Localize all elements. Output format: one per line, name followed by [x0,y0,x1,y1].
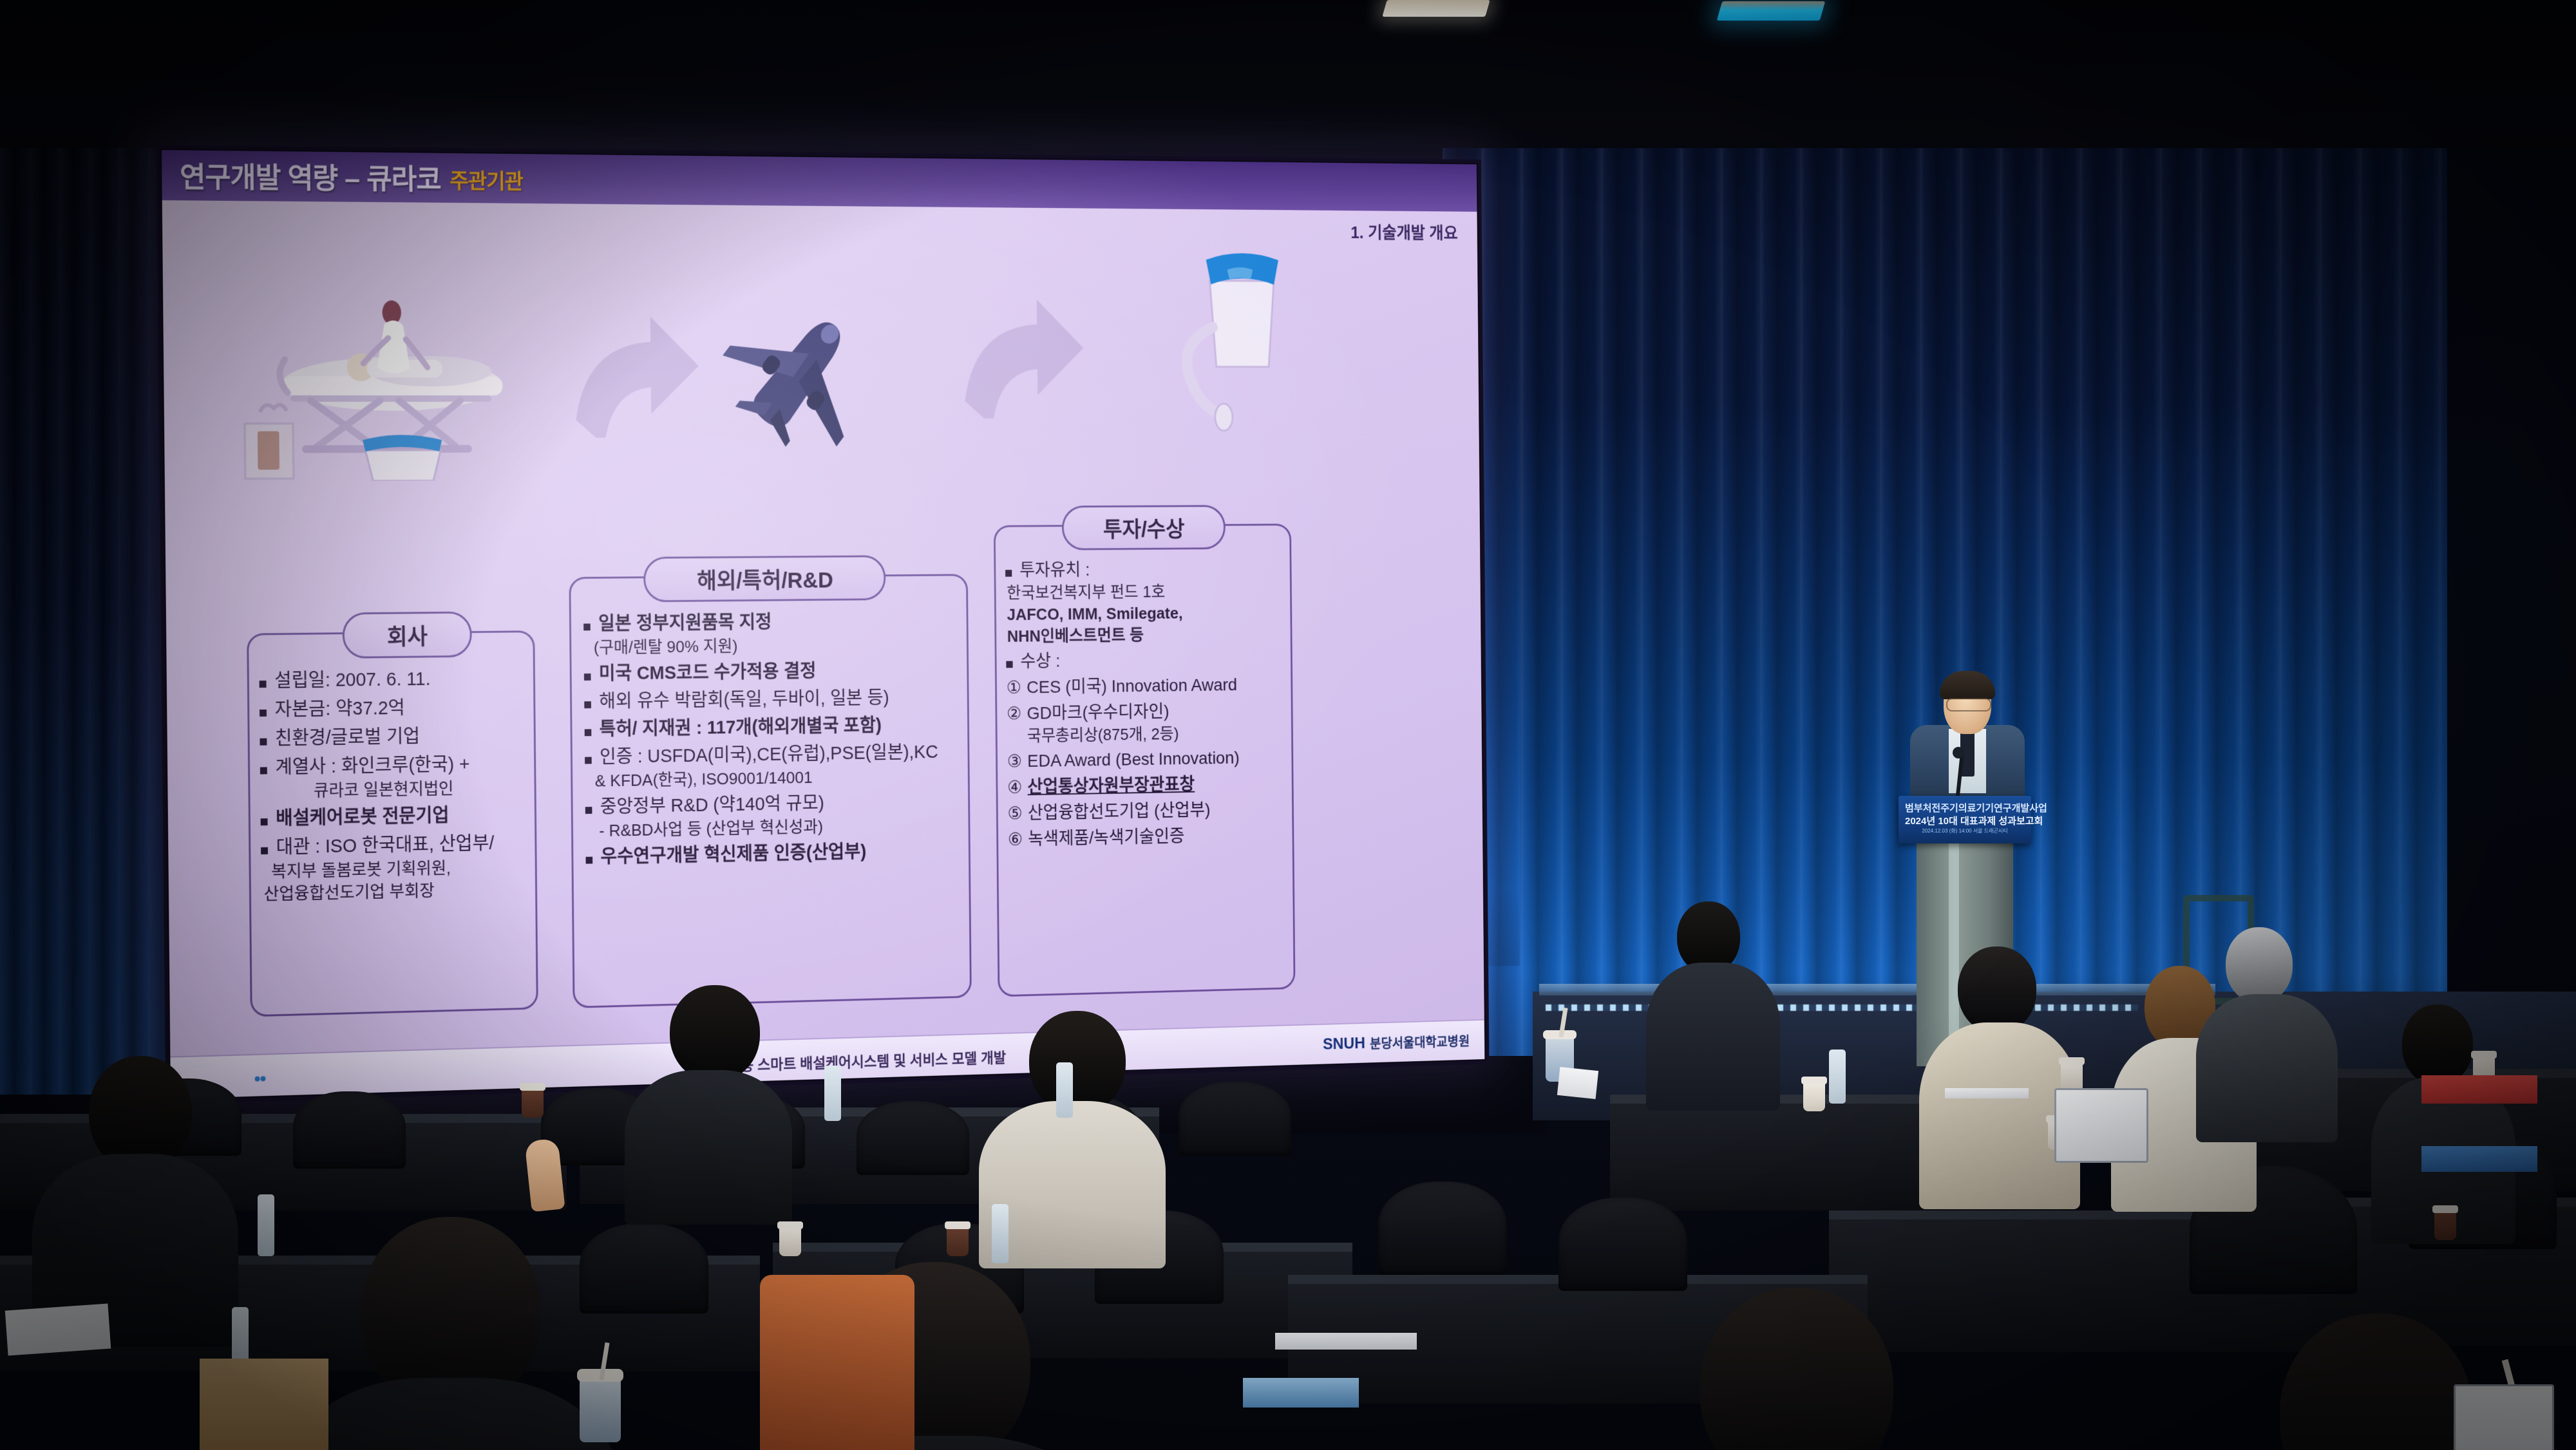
arrow-right-icon [956,294,1094,419]
airplane-icon [708,307,885,452]
list-item: ③EDA Award (Best Innovation) [1007,748,1286,770]
podium-banner: 범부처전주기의료기기연구개발사업 2024년 10대 대표과제 성과보고회 20… [1899,796,2031,843]
award-number: ② [1007,705,1027,722]
list-item: 설립일: 2007. 6. 11. [274,669,525,690]
list-item: 미국 CMS코드 수가적용 결정 [599,661,961,684]
document-sheet [1945,1088,2029,1098]
notebook [2421,1146,2537,1172]
list-item: 일본 정부지원품목 지정 (구매/렌탈 90% 지원) [598,612,961,655]
water-bottle [258,1194,274,1256]
slide-box-global-title: 해외/특허/R&D [643,555,886,602]
list-item: ①CES (미국) Innovation Award [1007,675,1285,696]
document-sheet [1275,1333,1417,1350]
global-list: 일본 정부지원품목 지정 (구매/렌탈 90% 지원) 미국 CMS코드 수가적… [571,576,969,867]
list-item: ⑤산업융합선도기업 (산업부) [1007,800,1286,822]
glasses-icon [1946,698,1991,711]
microphone-icon [1953,747,1964,758]
audience-chair [1179,1082,1291,1156]
slide-title: 연구개발 역량 – 큐라코주관기관 [180,154,523,198]
document-sheet [1557,1067,1598,1099]
audience-chair [1558,1198,1687,1291]
audience-chair [293,1091,406,1169]
audience-chair [857,1101,969,1175]
stage-front-edge [1539,984,2215,995]
slide-box-award-title: 투자/수상 [1062,505,1226,550]
podium-banner-line1: 범부처전주기의료기기연구개발사업 [1905,801,2025,814]
list-item: ④산업통상자원부장관표창 [1007,774,1286,796]
podium-banner-line2: 2024년 10대 대표과제 성과보고회 [1905,814,2025,827]
list-item: ⑥녹색제품/녹색기술인증 [1008,825,1287,848]
iced-drink-cup [580,1378,621,1442]
snuh-logo: SNUH분당서울대학교병원 [1323,1030,1470,1053]
list-item: 계열사 : 화인크루(한국) + 큐라코 일본현지법인 [275,755,526,800]
list-item: 대관 : ISO 한국대표, 산업부/ 복지부 돌봄로봇 기획위원, 산업융합선… [276,834,527,902]
slide-box-global-patent-rnd: 해외/특허/R&D 일본 정부지원품목 지정 (구매/렌탈 90% 지원) 미국… [569,574,971,1008]
hospital-bed-with-patient-icon [240,263,531,482]
list-item: 중앙정부 R&D (약140억 규모) - R&BD사업 등 (산업부 혁신성과… [600,792,963,839]
speaker-presenter [1906,675,2029,804]
list-item: 수상 : [1020,650,1285,670]
tablet-device [2454,1384,2554,1450]
audience-chair [580,1223,708,1313]
list-item: 자본금: 약37.2억 [275,698,526,720]
notebook [5,1304,111,1356]
list-item: 배설케어로봇 전문기업 [276,805,526,829]
water-bottle [1056,1062,1073,1118]
ceiling-light-cyan [1717,1,1826,21]
water-bottle [824,1066,841,1121]
tablet-device [2054,1088,2148,1163]
award-number: ⑤ [1007,805,1028,823]
stage-led-strip [1546,1004,2138,1011]
slide-box-company: 회사 설립일: 2007. 6. 11. 자본금: 약37.2억 친환경/글로벌… [247,630,538,1017]
care-robot-device-icon [1168,235,1310,438]
slide-title-text: 연구개발 역량 – 큐라코 [180,162,441,196]
arrow-right-icon [566,311,709,437]
presentation-slide: 연구개발 역량 – 큐라코주관기관 1. 기술개발 개요 [162,150,1484,1099]
slide-box-investment-awards: 투자/수상 투자유치 : 한국보건복지부 펀드 1호 JAFCO, IMM, S… [994,523,1296,997]
conference-photo-scene: 연구개발 역량 – 큐라코주관기관 1. 기술개발 개요 [0,0,2576,1450]
podium-banner-line3: 2024.12.03 (화) 14:00 서울 드래곤시티 [1905,827,2025,834]
red-folder [2421,1075,2537,1104]
coffee-cup [947,1227,969,1256]
list-item: ②GD마크(우수디자인) 국무총리상(875개, 2등) [1007,701,1285,744]
award-number: ④ [1007,778,1028,796]
projection-screen: 연구개발 역량 – 큐라코주관기관 1. 기술개발 개요 [156,145,1490,1104]
snuh-logo-sub: 분당서울대학교병원 [1370,1034,1470,1051]
curaco-logo-dots [254,1064,269,1098]
coffee-cup [522,1088,544,1118]
coffee-cup [2434,1210,2456,1240]
coffee-cup [779,1227,801,1256]
water-bottle [992,1204,1009,1263]
award-number: ① [1007,679,1027,696]
award-number: ③ [1007,753,1028,770]
list-item: 친환경/글로벌 기업 [275,726,525,748]
award-number: ⑥ [1008,831,1028,849]
paper-bag [200,1359,328,1450]
slide-title-accent: 주관기관 [450,169,523,194]
company-list: 설립일: 2007. 6. 11. 자본금: 약37.2억 친환경/글로벌 기업… [249,632,535,903]
list-item: 특허/ 지재권 : 117개(해외개별국 포함) [600,716,961,739]
list-item: 해외 유수 박람회(독일, 두바이, 일본 등) [599,688,961,711]
slide-hero-graphic [162,227,1479,504]
audience-chair [1378,1182,1507,1275]
notebook [1243,1378,1359,1408]
list-item: 인증 : USFDA(미국),CE(유럽),PSE(일본),KC & KFDA(… [600,743,962,789]
coffee-cup [1803,1082,1825,1111]
slide-box-company-title: 회사 [342,612,471,659]
ceiling [0,0,2576,148]
list-item: 우수연구개발 혁신제품 인증(산업부) [600,841,962,867]
list-item: 투자유치 : 한국보건복지부 펀드 1호 JAFCO, IMM, Smilega… [1019,560,1285,644]
ceiling-light-warm [1382,0,1490,17]
orange-coat-on-chair [760,1275,914,1450]
water-bottle [1829,1050,1846,1104]
award-list: 투자유치 : 한국보건복지부 펀드 1호 JAFCO, IMM, Smilega… [996,525,1293,849]
